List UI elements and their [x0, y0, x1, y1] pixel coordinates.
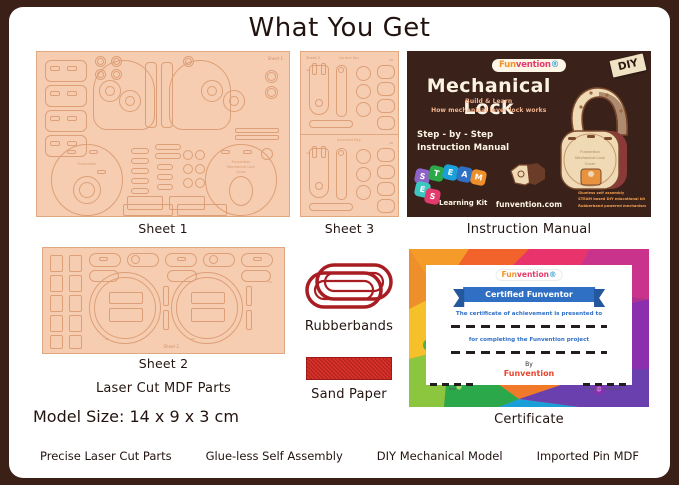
sheet-3-caption: Sheet 3 [300, 221, 399, 236]
certificate-line-1: The certificate of achievement is presen… [426, 311, 632, 317]
sand-paper-caption: Sand Paper [295, 387, 403, 402]
certificate-funvention-logo: Funvention® [496, 269, 563, 281]
feature-4: Imported Pin MDF [537, 449, 639, 463]
steam-logo: S T E A M E S Learning Kit [415, 165, 501, 207]
rubberbands-caption: Rubberbands [295, 319, 403, 334]
diy-badge: DIY [609, 53, 646, 77]
step-line-2: Instruction Manual [417, 142, 509, 155]
feature-list: Precise Laser Cut Parts Glue-less Self A… [9, 449, 670, 463]
step-line-1: Step - by - Step [417, 129, 509, 142]
funvention-logo: Funvention® [492, 59, 566, 72]
manual-url: funvention.com [496, 200, 562, 209]
certificate-inner-panel: Funvention® Certified Funventor The cert… [426, 265, 632, 385]
certificate-line-2: for completing the Funvention project [426, 337, 632, 343]
sheet-1-image: Sheet 1 [36, 51, 290, 217]
svg-text:Funvention: Funvention [580, 149, 600, 154]
bullet-2: STEAM based DIY educational kit [578, 196, 646, 202]
manual-subtitle-2: How mechanical lever lock works [407, 107, 570, 114]
feature-3: DIY Mechanical Model [377, 449, 503, 463]
sheet3-incorrect-key-label: Incorrect Key [325, 138, 373, 143]
certificate-date-label: Date [430, 387, 475, 391]
instruction-manual-image: Funvention® Mechanical Lock Build & Lear… [407, 51, 651, 217]
bullet-3: Rubberband powered mechanism [578, 203, 646, 209]
sand-paper-image [306, 357, 392, 380]
certificate-image: Funvention® Certified Funventor The cert… [409, 249, 649, 407]
sheet-2-image: Sheet 2 [42, 247, 285, 354]
svg-text:Cover: Cover [585, 161, 596, 166]
certificate-caption: Certificate [409, 412, 649, 427]
wooden-key-parts-illustration [509, 159, 549, 189]
svg-text:Mechanical Lock: Mechanical Lock [575, 155, 605, 160]
certificate-second-line [451, 351, 608, 354]
certificate-name-line [451, 325, 608, 328]
certificate-signature-line [583, 383, 628, 386]
feature-1: Precise Laser Cut Parts [40, 449, 172, 463]
white-card: What You Get Sheet 1 [9, 7, 670, 478]
model-size-text: Model Size: 14 x 9 x 3 cm [33, 407, 239, 426]
mechanical-lock-illustration: Funvention Mechanical Lock Cover [547, 75, 645, 195]
certificate-banner: Certified Funventor [463, 287, 595, 302]
page-title: What You Get [9, 13, 670, 43]
sheet1-etched-label: FunventionMechanical LockCover [213, 160, 269, 175]
sheet-3-image: Sheet 3 Correct Key Incorrect Key 11 16 [300, 51, 399, 217]
sheet-2-caption: Sheet 2 [42, 356, 285, 371]
manual-subtitle-1: Build & Learn [407, 98, 570, 105]
manual-step-text: Step - by - Step Instruction Manual [417, 129, 509, 155]
product-infographic: What You Get Sheet 1 [0, 0, 679, 485]
certificate-by-label: By [426, 361, 632, 368]
steam-label: Learning Kit [439, 199, 487, 207]
manual-feature-bullets: Glueless self assembly STEAM based DIY e… [578, 190, 646, 209]
sheet-1-caption: Sheet 1 [36, 221, 290, 236]
laser-cut-parts-caption: Laser Cut MDF Parts [42, 381, 285, 396]
instruction-manual-caption: Instruction Manual [407, 222, 651, 237]
feature-2: Glue-less Self Assembly [206, 449, 343, 463]
rubberbands-image [301, 259, 397, 315]
certificate-by-name: Funvention [426, 369, 632, 378]
steam-hex-m: M [470, 169, 488, 187]
certificate-signature-label: Funventor's Signature [583, 387, 628, 391]
certificate-date-line [430, 383, 475, 386]
sheet3-correct-key-label: Correct Key [327, 56, 371, 61]
